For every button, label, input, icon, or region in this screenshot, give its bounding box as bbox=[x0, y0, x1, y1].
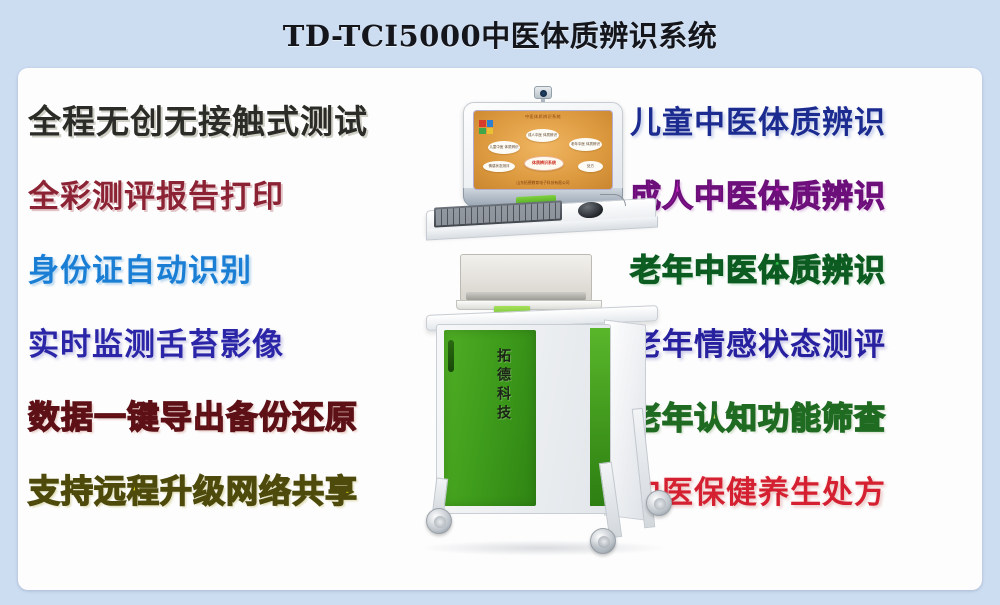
list-item: 数据一键导出备份还原 bbox=[28, 378, 428, 452]
screen-bubble: 儿童中医 体质辨识 bbox=[488, 141, 520, 154]
feature-label: 全程无创无接触式测试 bbox=[28, 95, 368, 143]
feature-label: 实时监测舌苔影像 bbox=[28, 319, 284, 364]
title-bar: TD-TCI5000中医体质辨识系统 bbox=[0, 0, 1000, 68]
caster-wheel bbox=[646, 490, 672, 516]
monitor-screen: 中医体质辨识系统 儿童中医 体质辨识 成人中医 体质辨识 老年中医 体质辨识 情… bbox=[473, 110, 613, 190]
printer-output-slot bbox=[466, 292, 586, 300]
screen-footer-text: 山东拓德教育电子科技有限公司 bbox=[474, 180, 612, 186]
cabinet-brand-text: 拓德科技 bbox=[470, 348, 510, 458]
list-item: 身份证自动识别 bbox=[28, 230, 428, 304]
page-title: TD-TCI5000中医体质辨识系统 bbox=[283, 13, 717, 55]
content-panel: 全程无创无接触式测试 全彩测评报告打印 身份证自动识别 实时监测舌苔影像 数据一… bbox=[18, 68, 982, 590]
list-item: 全彩测评报告打印 bbox=[28, 156, 428, 230]
screen-bubble: 情感状态测评 bbox=[483, 161, 515, 172]
screen-title: 中医体质辨识系统 bbox=[474, 114, 612, 120]
screen-bubble: 处方 bbox=[578, 161, 603, 172]
list-item: 实时监测舌苔影像 bbox=[28, 304, 428, 378]
screen-bubble: 成人中医 体质辨识 bbox=[526, 129, 559, 142]
left-feature-list: 全程无创无接触式测试 全彩测评报告打印 身份证自动识别 实时监测舌苔影像 数据一… bbox=[28, 82, 428, 526]
cabinet-handle bbox=[448, 340, 454, 372]
camera-icon bbox=[534, 86, 552, 99]
screen-center-bubble: 体质辨识系统 bbox=[524, 156, 564, 171]
feature-label: 支持远程升级网络共享 bbox=[28, 466, 358, 512]
screen-bubble: 老年中医 体质辨识 bbox=[569, 138, 602, 151]
caster-wheel bbox=[426, 508, 452, 534]
list-item: 全程无创无接触式测试 bbox=[28, 82, 428, 156]
feature-label: 全彩测评报告打印 bbox=[28, 171, 284, 216]
feature-label: 身份证自动识别 bbox=[28, 245, 252, 290]
feature-label: 数据一键导出备份还原 bbox=[28, 392, 358, 438]
list-item: 支持远程升级网络共享 bbox=[28, 452, 428, 526]
screen-logo-icon bbox=[479, 120, 493, 134]
floor-shadow bbox=[418, 540, 668, 556]
device-illustration: 中医体质辨识系统 儿童中医 体质辨识 成人中医 体质辨识 老年中医 体质辨识 情… bbox=[408, 78, 698, 588]
